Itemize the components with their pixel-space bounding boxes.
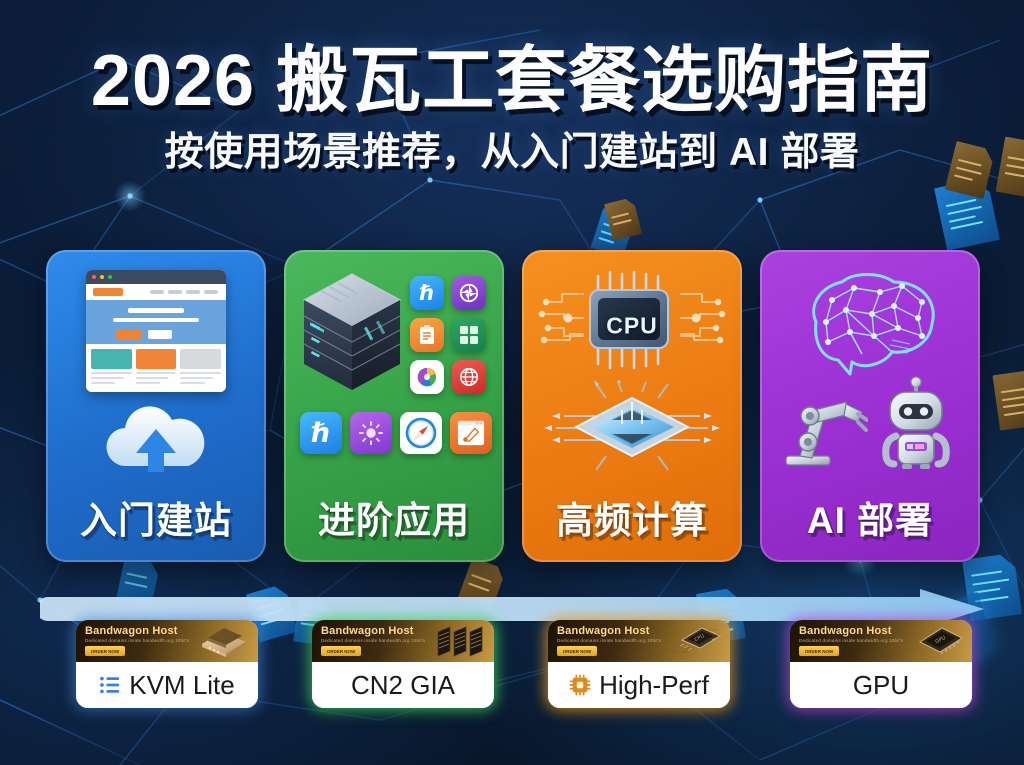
card-artwork: CPU — [522, 264, 742, 480]
gpu-chip-icon: GPU — [910, 624, 966, 658]
order-now-button[interactable]: ORDER NOW — [85, 646, 125, 656]
content-line — [91, 377, 124, 379]
app-store-icon: ℏ — [300, 412, 342, 454]
processor-die-icon — [542, 380, 722, 474]
cpu-chip-icon: CPU — [668, 624, 724, 658]
list-lines-icon — [99, 674, 121, 696]
poster-canvas: 2026 搬瓦工套餐选购指南 按使用场景推荐，从入门建站到 AI 部署 — [0, 0, 1024, 765]
card-artwork — [46, 264, 266, 480]
badge-banner: Bandwagon Host Dedicated domains inside … — [548, 620, 730, 662]
cpu-chip-label: CPU — [606, 313, 658, 340]
window-maximize-dot — [108, 275, 112, 279]
brand-name: Bandwagon Host — [557, 625, 650, 637]
brand-name: Bandwagon Host — [321, 625, 414, 637]
nav-item-placeholder — [186, 290, 200, 294]
plan-name: High-Perf — [599, 670, 709, 701]
plan-name: CN2 GIA — [351, 670, 455, 701]
brand-tagline: Dedicated domains inside bandwidth.org 1… — [799, 638, 903, 643]
card-artwork — [760, 264, 980, 480]
card-artwork: ℏ ℏ — [284, 264, 504, 480]
window-minimize-dot — [100, 275, 104, 279]
scenario-card-ai-deployment[interactable]: AI 部署 — [760, 250, 980, 562]
browser-hero-section — [86, 300, 226, 344]
scenario-card-row: 入门建站 — [46, 250, 986, 562]
brand-name: Bandwagon Host — [799, 625, 892, 637]
nav-item-placeholder — [150, 290, 164, 294]
headline-block: 2026 搬瓦工套餐选购指南 按使用场景推荐，从入门建站到 AI 部署 — [0, 44, 1024, 174]
badge-body: GPU — [790, 662, 972, 708]
content-column — [180, 349, 221, 392]
browser-window-mockup-icon — [86, 270, 226, 392]
hero-primary-button-placeholder — [116, 330, 142, 339]
order-now-button[interactable]: ORDER NOW — [321, 646, 361, 656]
card-label: 高频计算 — [522, 490, 742, 544]
plan-badge-cn2-gia[interactable]: Bandwagon Host Dedicated domains inside … — [312, 620, 494, 708]
hero-heading-placeholder — [128, 308, 184, 313]
brand-tagline: Dedicated domains inside bandwidth.org 1… — [321, 638, 425, 643]
hero-secondary-button-placeholder — [148, 330, 172, 339]
content-line — [180, 372, 221, 374]
content-line — [180, 377, 213, 379]
nav-item-placeholder — [204, 290, 218, 294]
content-thumb — [180, 349, 221, 369]
brand-name: Bandwagon Host — [85, 625, 178, 637]
window-close-dot — [92, 275, 96, 279]
site-logo-placeholder — [93, 288, 123, 296]
order-now-button[interactable]: ORDER NOW — [557, 646, 597, 656]
browser-content-grid — [86, 344, 226, 392]
page-subtitle: 按使用场景推荐，从入门建站到 AI 部署 — [0, 132, 1024, 175]
content-column — [91, 349, 132, 392]
nav-item-placeholder — [168, 290, 182, 294]
content-line — [136, 382, 160, 384]
brand-tagline: Dedicated domains inside bandwidth.org 1… — [85, 638, 189, 643]
content-column — [136, 349, 177, 392]
badge-banner: Bandwagon Host Dedicated domains inside … — [76, 620, 258, 662]
card-label: AI 部署 — [760, 490, 980, 544]
badge-banner: Bandwagon Host Dedicated domains inside … — [790, 620, 972, 662]
badge-banner: Bandwagon Host Dedicated domains inside … — [312, 620, 494, 662]
content-line — [91, 382, 115, 384]
browser-titlebar — [86, 270, 226, 284]
brain-network-icon — [788, 266, 954, 378]
scenario-card-high-performance[interactable]: CPU — [522, 250, 742, 562]
plan-badge-kvm-lite[interactable]: Bandwagon Host Dedicated domains inside … — [76, 620, 258, 708]
robot-icon — [868, 376, 964, 470]
preview-window-icon — [450, 412, 492, 454]
content-line — [180, 382, 204, 384]
badge-body: CN2 GIA — [312, 662, 494, 708]
plan-badge-gpu[interactable]: Bandwagon Host Dedicated domains inside … — [790, 620, 972, 708]
content-thumb — [136, 349, 177, 369]
clipboard-icon — [410, 318, 444, 352]
plan-badge-high-perf[interactable]: Bandwagon Host Dedicated domains inside … — [548, 620, 730, 708]
browser-navbar — [86, 284, 226, 300]
server-rack-icon — [432, 624, 488, 658]
server-rack-icon — [300, 272, 404, 396]
server-box-icon — [196, 624, 252, 658]
scenario-card-advanced-apps[interactable]: ℏ ℏ — [284, 250, 504, 562]
cloud-upload-icon — [96, 400, 216, 478]
page-title: 2026 搬瓦工套餐选购指南 — [0, 44, 1024, 120]
settings-gear-icon — [350, 412, 392, 454]
order-now-button[interactable]: ORDER NOW — [799, 646, 839, 656]
badge-body: High-Perf — [548, 662, 730, 708]
color-wheel-icon — [410, 360, 444, 394]
content-line — [136, 377, 169, 379]
badge-body: KVM Lite — [76, 662, 258, 708]
plan-name: GPU — [853, 670, 909, 701]
content-line — [136, 372, 177, 374]
brand-tagline: Dedicated domains inside bandwidth.org 1… — [557, 638, 661, 643]
scenario-card-entry-website[interactable]: 入门建站 — [46, 250, 266, 562]
app-store-icon: ℏ — [410, 276, 444, 310]
globe-icon — [452, 360, 486, 394]
card-label: 进阶应用 — [284, 490, 504, 544]
card-label: 入门建站 — [46, 490, 266, 544]
hero-text-placeholder — [113, 318, 199, 322]
shutter-icon — [452, 276, 486, 310]
safari-compass-icon — [400, 412, 442, 454]
grid-apps-icon — [452, 318, 486, 352]
content-thumb — [91, 349, 132, 369]
content-line — [91, 372, 132, 374]
plan-name: KVM Lite — [129, 670, 235, 701]
plan-badge-row: Bandwagon Host Dedicated domains inside … — [0, 620, 1024, 720]
cpu-chip-icon — [569, 674, 591, 696]
robot-arm-icon — [772, 382, 868, 468]
